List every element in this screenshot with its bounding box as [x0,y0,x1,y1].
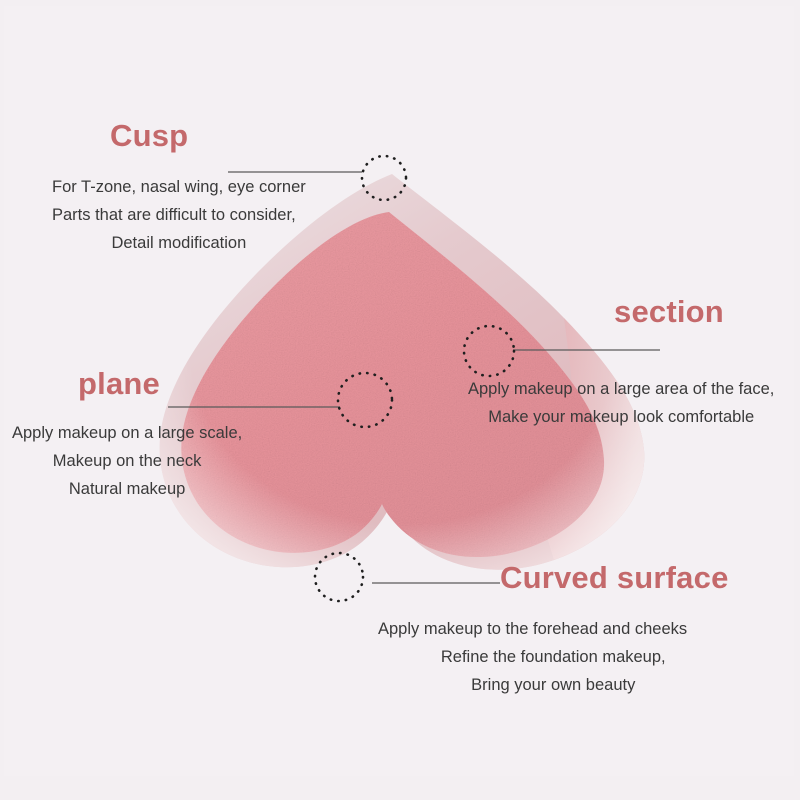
callout-cusp-line-1: For T-zone, nasal wing, eye corner [52,173,306,201]
callout-cusp-line-2: Parts that are difficult to consider, [52,201,306,229]
callout-curved-title: Curved surface [500,562,729,593]
callout-section-line-1: Apply makeup on a large area of the face… [468,375,774,403]
callout-curved-line-1: Apply makeup to the forehead and cheeks [378,615,729,643]
callout-plane-line-2: Makeup on the neck [12,447,242,475]
infographic-canvas: Cusp For T-zone, nasal wing, eye corner … [0,0,800,800]
callout-plane-line-3: Natural makeup [12,475,242,503]
callout-section-line-2: Make your makeup look comfortable [468,403,774,431]
callout-section-body: Apply makeup on a large area of the face… [468,375,774,431]
callout-plane-title: plane [78,368,242,399]
callout-cusp-line-3: Detail modification [52,229,306,257]
callout-section-title: section [614,296,774,327]
callout-curved-line-3: Bring your own beauty [378,671,729,699]
callout-curved-body: Apply makeup to the forehead and cheeks … [378,615,729,699]
callout-plane-line-1: Apply makeup on a large scale, [12,419,242,447]
callout-plane-body: Apply makeup on a large scale, Makeup on… [12,419,242,503]
callout-curved-line-2: Refine the foundation makeup, [378,643,729,671]
callout-cusp-title: Cusp [110,120,306,151]
callout-plane: plane Apply makeup on a large scale, Mak… [12,368,242,503]
callout-cusp-body: For T-zone, nasal wing, eye corner Parts… [52,173,306,257]
callout-section: section Apply makeup on a large area of … [468,296,774,431]
callout-cusp: Cusp For T-zone, nasal wing, eye corner … [52,120,306,257]
callout-curved: Curved surface Apply makeup to the foreh… [378,562,729,699]
